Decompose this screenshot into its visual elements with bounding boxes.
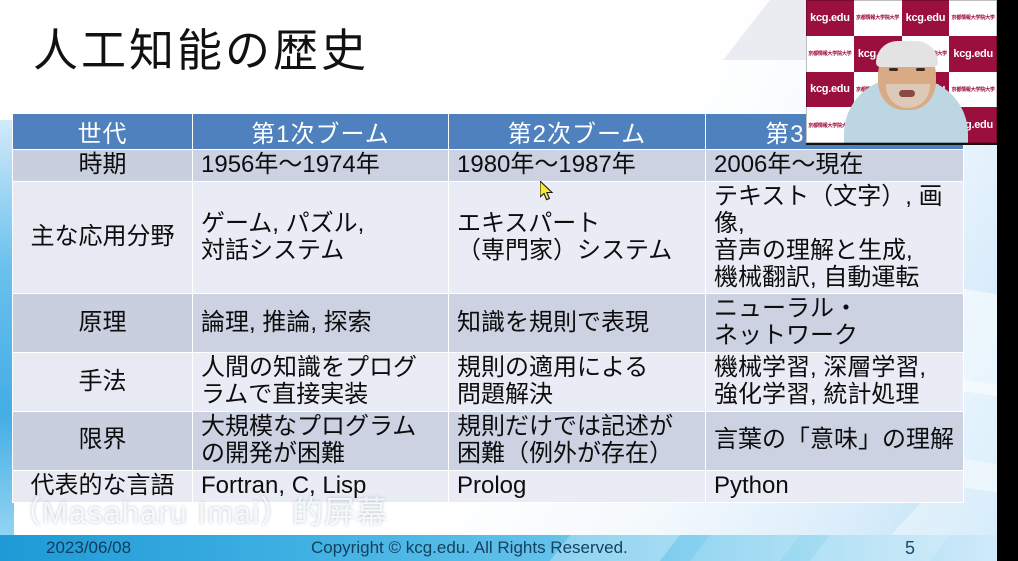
backdrop-tile-logo: kcg.edu	[806, 72, 854, 108]
table-row-label: 限界	[13, 411, 193, 470]
table-header-generation: 世代	[13, 114, 193, 150]
slide-date: 2023/06/08	[46, 538, 131, 558]
table-row: 主な応用分野ゲーム, パズル,対話システムエキスパート（専門家）システムテキスト…	[13, 181, 964, 294]
table-row: 限界大規模なプログラムの開発が困難規則だけでは記述が困難（例外が存在）言葉の「意…	[13, 411, 964, 470]
table-row: 時期1956年〜1974年1980年〜1987年2006年〜現在	[13, 150, 964, 182]
table-row-label: 手法	[13, 353, 193, 412]
table-cell: 規則の適用による問題解決	[449, 353, 706, 412]
slide-copyright: Copyright © kcg.edu. All Rights Reserved…	[311, 538, 628, 558]
table-row-label: 原理	[13, 294, 193, 353]
history-table: 世代 第1次ブーム 第2次ブーム 第3次ブーム 時期1956年〜1974年198…	[12, 113, 964, 503]
table-header-boom2: 第2次ブーム	[449, 114, 706, 150]
screen-share-view: 人工知能の歴史 世代 第1次ブーム 第2次ブーム 第3次ブーム 時期1956年〜…	[0, 0, 1018, 561]
backdrop-tile-logo: kcg.edu	[902, 0, 950, 36]
speaker-mouth	[899, 90, 915, 97]
table-cell: Prolog	[449, 470, 706, 502]
backdrop-tile-text: 京都情報大学院大学	[949, 0, 997, 36]
table-cell: 知識を規則で表現	[449, 294, 706, 353]
screen-share-label: （Masaharu Imai）的屏幕	[10, 487, 388, 532]
webcam-video-tile[interactable]: kcg.edu京都情報大学院大学kcg.edu京都情報大学院大学京都情報大学院大…	[806, 0, 997, 145]
speaker-eye-right	[916, 68, 925, 71]
table-cell: 1980年〜1987年	[449, 150, 706, 182]
table-cell: 人間の知識をプログラムで直接実装	[193, 353, 449, 412]
backdrop-tile-text: 京都情報大学院大学	[854, 0, 902, 36]
table-row-label: 主な応用分野	[13, 181, 193, 294]
slide-page-number: 5	[905, 538, 915, 559]
backdrop-tile-logo: kcg.edu	[949, 36, 997, 72]
table-cell: 論理, 推論, 探索	[193, 294, 449, 353]
table-cell: ニューラル・ネットワーク	[706, 294, 964, 353]
table-cell: テキスト（文字）, 画像,音声の理解と生成,機械翻訳, 自動運転	[706, 181, 964, 294]
slide-title: 人工知能の歴史	[33, 28, 369, 73]
speaker-eye-left	[889, 68, 898, 71]
table-cell: 言葉の「意味」の理解	[706, 411, 964, 470]
speaker-hair	[876, 41, 938, 67]
right-black-bar	[997, 0, 1018, 561]
table-cell: 大規模なプログラムの開発が困難	[193, 411, 449, 470]
table-cell: ゲーム, パズル,対話システム	[193, 181, 449, 294]
backdrop-tile-logo: kcg.edu	[806, 0, 854, 36]
table-header-boom1: 第1次ブーム	[193, 114, 449, 150]
backdrop-tile-text: 京都情報大学院大学	[806, 36, 854, 72]
mouse-cursor	[540, 181, 556, 203]
table-cell: 機械学習, 深層学習,強化学習, 統計処理	[706, 353, 964, 412]
table-cell: 規則だけでは記述が困難（例外が存在）	[449, 411, 706, 470]
table-cell: エキスパート（専門家）システム	[449, 181, 706, 294]
table-cell: Python	[706, 470, 964, 502]
table-row: 手法人間の知識をプログラムで直接実装規則の適用による問題解決機械学習, 深層学習…	[13, 353, 964, 412]
table-row: 原理論理, 推論, 探索知識を規則で表現ニューラル・ネットワーク	[13, 294, 964, 353]
table-cell: 2006年〜現在	[706, 150, 964, 182]
table-cell: 1956年〜1974年	[193, 150, 449, 182]
table-row-label: 時期	[13, 150, 193, 182]
table-body: 時期1956年〜1974年1980年〜1987年2006年〜現在主な応用分野ゲー…	[13, 150, 964, 503]
